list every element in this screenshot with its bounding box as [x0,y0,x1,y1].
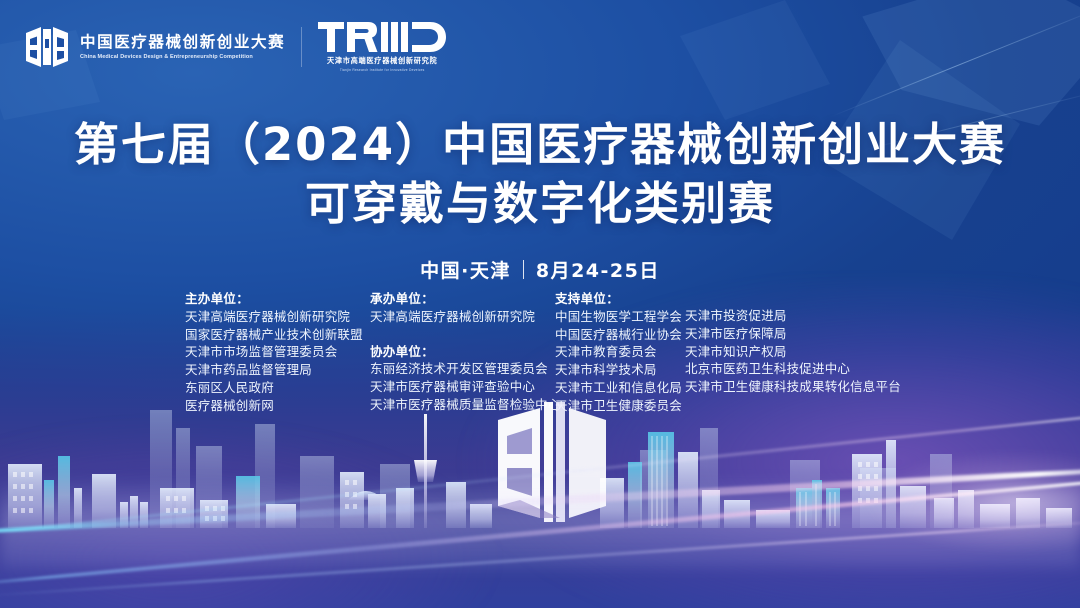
competition-name-en: China Medical Devices Design & Entrepren… [80,54,289,60]
institute-name-cn: 天津市高端医疗器械创新研究院 [327,56,437,66]
competition-logo-text: 中国医疗器械创新创业大赛 China Medical Devices Desig… [80,34,285,61]
logo-divider [301,27,302,67]
subtitle-location: 中国·天津 [420,256,511,283]
competition-logo: 中国医疗器械创新创业大赛 China Medical Devices Desig… [24,25,285,69]
support-item: 中国医疗器械行业协会 [555,326,685,344]
institute-logo: 天津市高端医疗器械创新研究院 Tianjin Research Institut… [318,22,446,72]
host-item: 天津市市场监督管理委员会 [185,343,370,361]
light-glow-right [720,430,1080,608]
poster-title-line2: 可穿戴与数字化类别赛 [0,177,1080,230]
host-item: 天津高端医疗器械创新研究院 [185,308,370,326]
title-block: 第七届（2024）中国医疗器械创新创业大赛 可穿戴与数字化类别赛 中国·天津 8… [0,118,1080,283]
poster-subtitle: 中国·天津 8月24-25日 [0,256,1080,283]
host-item: 国家医疗器械产业技术创新联盟 [185,326,370,344]
subtitle-separator [523,260,524,279]
header-logos: 中国医疗器械创新创业大赛 China Medical Devices Desig… [24,22,446,72]
triid-wordmark-icon [318,22,446,52]
support-item: 中国生物医学工程学会 [555,308,685,326]
organizer-heading: 承办单位： [370,290,555,308]
host-heading: 主办单位： [185,290,370,308]
decor-polygon-c [680,0,830,120]
poster-title-line1: 第七届（2024）中国医疗器械创新创业大赛 [0,118,1080,171]
organizer-item: 天津高端医疗器械创新研究院 [370,308,555,326]
support-item: 天津市教育委员会 [555,343,685,361]
support-item: 天津市知识产权局 [685,343,905,361]
coorganizer-heading: 协办单位： [370,343,555,361]
competition-name-cn: 中国医疗器械创新创业大赛 [80,34,285,51]
open-door-mark-icon [24,25,70,69]
event-poster: 中国医疗器械创新创业大赛 China Medical Devices Desig… [0,0,1080,608]
support-item: 天津市投资促进局 [685,307,905,325]
organizer-spacer [370,326,555,343]
support-heading: 支持单位： [555,290,685,308]
subtitle-date: 8月24-25日 [536,256,660,283]
support-item: 天津市医疗保障局 [685,325,905,343]
institute-name-en: Tianjin Research Institute for Innovativ… [340,68,425,72]
